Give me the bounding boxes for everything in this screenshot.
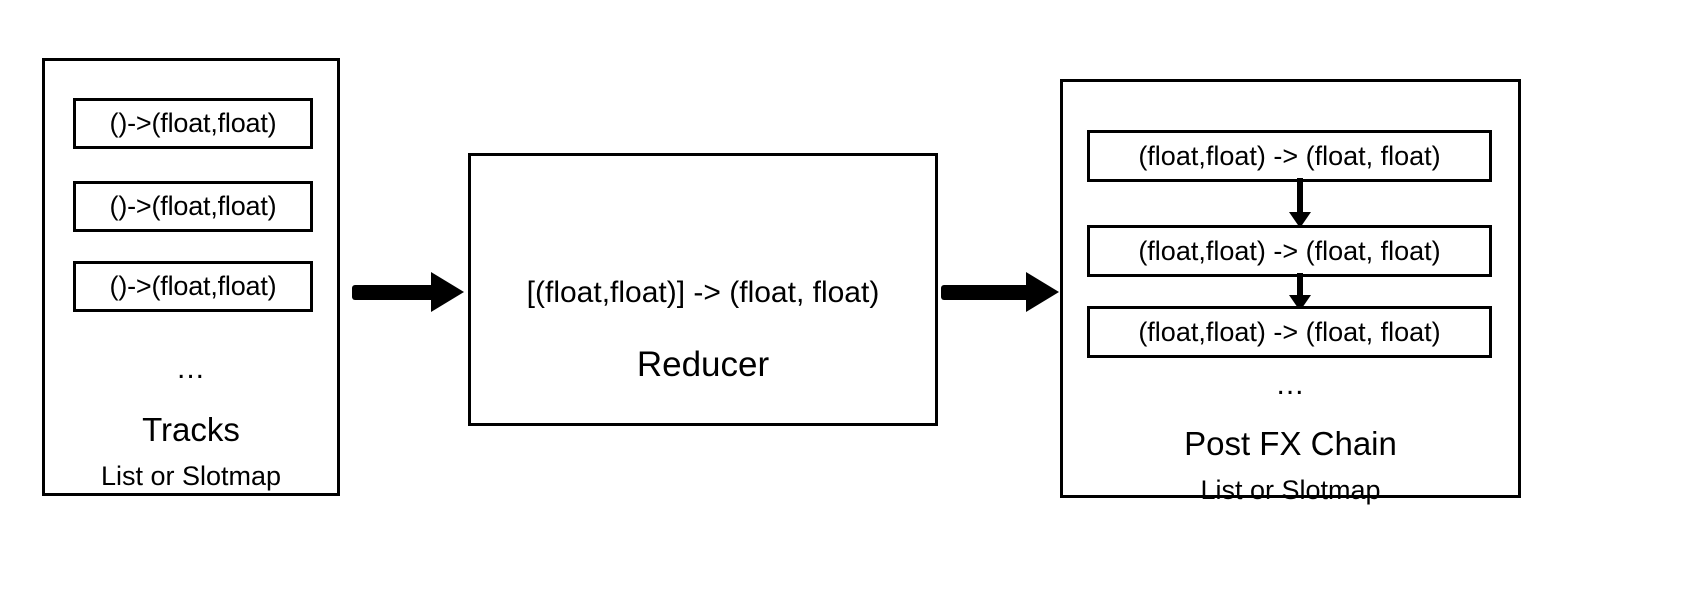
arrow-shaft [1297, 178, 1303, 214]
fx-link-arrow-down-icon [1289, 178, 1311, 228]
arrow-reducer-to-postfx-icon [941, 272, 1059, 312]
reducer-title: Reducer [471, 347, 935, 382]
fx-item: (float,float) -> (float, float) [1087, 225, 1492, 277]
tracks-title: Tracks [45, 413, 337, 446]
track-item: ()->(float,float) [73, 98, 313, 149]
arrow-shaft [352, 285, 436, 300]
arrow-shaft [1297, 273, 1303, 297]
arrow-head [1026, 272, 1059, 312]
postfx-panel: (float,float) -> (float, float) (float,f… [1060, 79, 1521, 498]
postfx-subtitle: List or Slotmap [1063, 477, 1518, 504]
arrow-shaft [941, 285, 1031, 300]
tracks-ellipsis: ... [45, 354, 337, 384]
reducer-panel: [(float,float)] -> (float, float) Reduce… [468, 153, 938, 426]
fx-item: (float,float) -> (float, float) [1087, 306, 1492, 358]
tracks-subtitle: List or Slotmap [45, 463, 337, 490]
arrow-tracks-to-reducer-icon [352, 272, 464, 312]
track-item: ()->(float,float) [73, 181, 313, 232]
arrow-head [431, 272, 464, 312]
tracks-panel: ()->(float,float) ()->(float,float) ()->… [42, 58, 340, 496]
postfx-ellipsis: ... [1063, 370, 1518, 400]
fx-item: (float,float) -> (float, float) [1087, 130, 1492, 182]
track-item: ()->(float,float) [73, 261, 313, 312]
reducer-signature: [(float,float)] -> (float, float) [471, 278, 935, 308]
postfx-title: Post FX Chain [1063, 427, 1518, 460]
diagram-canvas: ()->(float,float) ()->(float,float) ()->… [0, 0, 1694, 600]
